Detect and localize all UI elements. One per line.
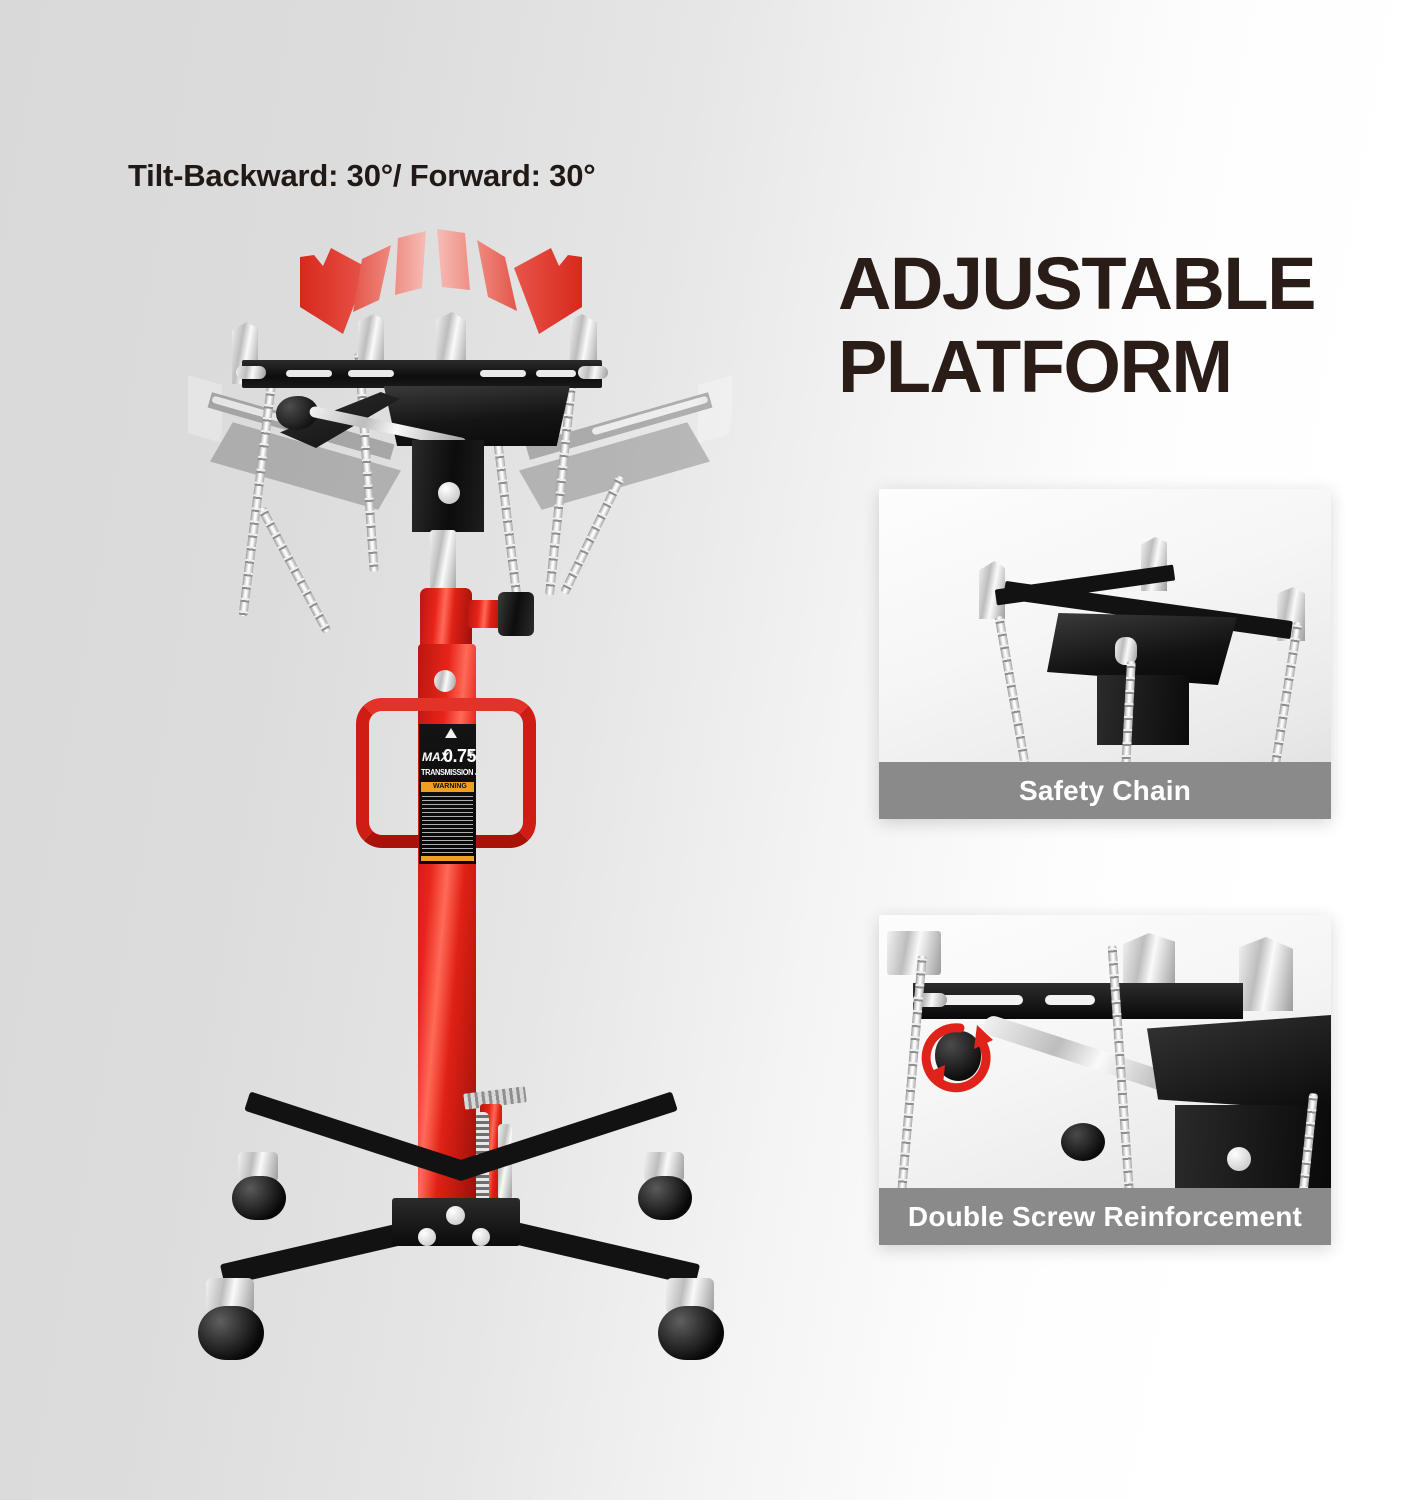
inset-card-safety-chain: Safety Chain xyxy=(879,489,1331,819)
release-knob xyxy=(498,592,534,636)
hub-bolt-right xyxy=(472,1228,490,1246)
beam-pin-left xyxy=(236,366,266,379)
hub-bolt-left xyxy=(418,1228,436,1246)
inset2-body xyxy=(1147,1015,1331,1111)
inset-caption-safety-chain: Safety Chain xyxy=(879,762,1331,819)
inset2-pivot xyxy=(1061,1123,1105,1161)
label-up-arrow-icon xyxy=(445,728,457,738)
beam-slot-2 xyxy=(348,370,394,377)
beam-slot-3 xyxy=(480,370,526,377)
caster-back-left xyxy=(232,1152,286,1230)
inset2-bracket-right xyxy=(1239,937,1293,1011)
caster-front-left xyxy=(198,1278,264,1372)
inset2-beam-slot-1 xyxy=(935,995,1023,1005)
product-feature-graphic: Tilt-Backward: 30°/ Forward: 30° xyxy=(0,0,1421,1500)
inset2-bolt xyxy=(1227,1147,1251,1171)
heading-line-2: PLATFORM xyxy=(838,331,1408,404)
caster-front-right xyxy=(658,1278,724,1372)
inset2-beam-slot-2 xyxy=(1045,995,1095,1005)
page-title: ADJUSTABLE PLATFORM xyxy=(838,248,1408,403)
inset-caption-double-screw: Double Screw Reinforcement xyxy=(879,1188,1331,1245)
label-fineprint xyxy=(422,796,473,854)
tilt-headline: Tilt-Backward: 30°/ Forward: 30° xyxy=(128,158,595,194)
label-warning-text: WARNING xyxy=(433,782,467,792)
label-capacity-unit: T xyxy=(468,750,474,760)
caster-back-right xyxy=(638,1152,692,1230)
cylinder-head xyxy=(420,588,472,648)
beam-slot-4 xyxy=(536,370,576,377)
beam-slot-1 xyxy=(286,370,332,377)
heading-line-1: ADJUSTABLE xyxy=(838,242,1315,325)
label-product-name: TRANSMISSION JACK xyxy=(421,768,476,777)
product-spec-label: MAX 0.75 T TRANSMISSION JACK WARNING xyxy=(419,724,476,864)
inset2-bracket-left xyxy=(887,931,941,975)
column-bolt xyxy=(434,670,456,692)
beam-pin-right xyxy=(578,366,608,379)
center-post-bolt xyxy=(438,482,460,504)
label-bottom-strip xyxy=(421,856,474,861)
transmission-jack-illustration: MAX 0.75 T TRANSMISSION JACK WARNING xyxy=(180,300,740,1420)
hub-bolt-top xyxy=(446,1206,465,1225)
inset-card-double-screw: Double Screw Reinforcement xyxy=(879,915,1331,1245)
inset1-center-block xyxy=(1097,675,1189,745)
